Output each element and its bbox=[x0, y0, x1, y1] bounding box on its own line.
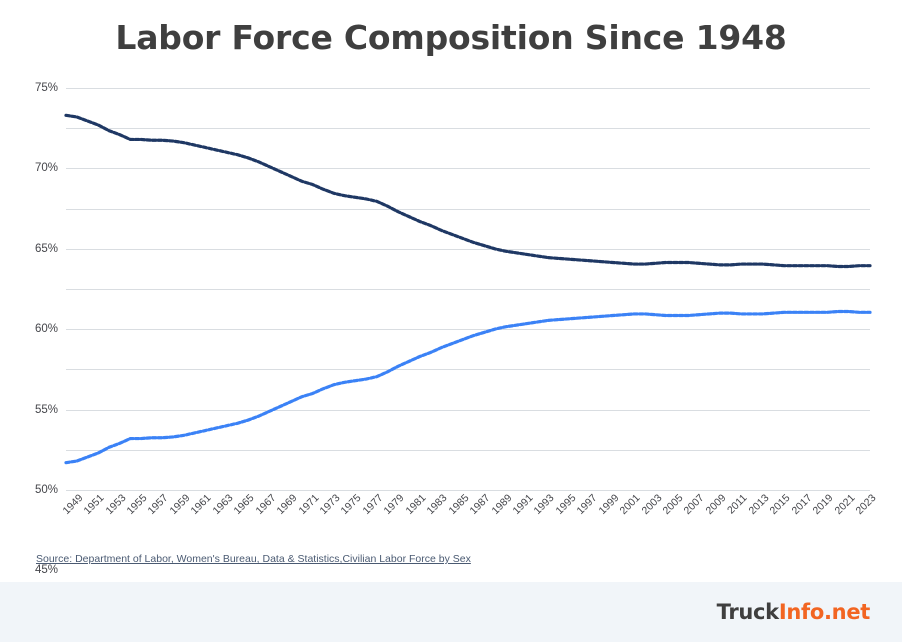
brand-name-secondary: Info.net bbox=[779, 600, 870, 624]
x-axis-tick-label: 2007 bbox=[682, 492, 707, 517]
x-axis-tick-label: 1961 bbox=[189, 492, 214, 517]
plot-wrapper: 75%70%65%60%55%50%45%40%35%30%25% bbox=[0, 70, 902, 510]
x-axis-tick-label: 2003 bbox=[639, 492, 664, 517]
page-title: Labor Force Composition Since 1948 bbox=[0, 18, 902, 57]
brand-name-primary: Truck bbox=[717, 600, 779, 624]
y-axis-tick-label: 55% bbox=[35, 404, 58, 416]
x-axis-tick-label: 1981 bbox=[403, 492, 428, 517]
x-axis-tick-label: 2011 bbox=[725, 492, 749, 516]
x-axis-tick-label: 1987 bbox=[468, 492, 493, 517]
x-axis-tick-label: 2009 bbox=[703, 492, 728, 517]
x-axis-tick-label: 1953 bbox=[103, 492, 128, 517]
x-axis-tick-label: 2021 bbox=[832, 492, 857, 517]
x-axis-tick-label: 1971 bbox=[296, 492, 321, 517]
x-axis-tick-label: 1975 bbox=[339, 492, 364, 517]
chart-page: Labor Force Composition Since 1948 75%70… bbox=[0, 0, 902, 642]
y-axis-tick-label: 60% bbox=[35, 323, 58, 335]
y-axis-tick-label: 75% bbox=[35, 82, 58, 94]
plot-area: 75%70%65%60%55%50%45%40%35%30%25% bbox=[66, 88, 870, 490]
series-lines bbox=[66, 88, 870, 490]
series-line-women bbox=[66, 312, 870, 463]
x-axis-tick-label: 1979 bbox=[382, 492, 407, 517]
x-axis-tick-label: 1977 bbox=[360, 492, 385, 517]
x-axis-tick-label: 1995 bbox=[553, 492, 578, 517]
x-axis-tick-label: 1993 bbox=[532, 492, 557, 517]
source-note: Source: Department of Labor, Women's Bur… bbox=[36, 553, 471, 565]
gridline: 25% bbox=[66, 490, 870, 491]
x-axis-tick-label: 1983 bbox=[425, 492, 450, 517]
x-axis-tick-label: 1969 bbox=[275, 492, 300, 517]
x-axis-tick-label: 1989 bbox=[489, 492, 514, 517]
x-axis-tick-label: 1967 bbox=[253, 492, 278, 517]
x-axis-tick-label: 1965 bbox=[232, 492, 257, 517]
x-axis-tick-label: 2005 bbox=[661, 492, 686, 517]
brand-logo: TruckInfo.net bbox=[717, 600, 870, 624]
x-axis-tick-label: 1957 bbox=[146, 492, 171, 517]
x-axis-ticks: 1949195119531955195719591961196319651967… bbox=[66, 492, 870, 552]
x-axis-tick-label: 2001 bbox=[618, 492, 643, 517]
x-axis-tick-label: 1973 bbox=[317, 492, 342, 517]
x-axis-tick-label: 1951 bbox=[82, 492, 107, 517]
x-axis-tick-label: 2013 bbox=[746, 492, 771, 517]
y-axis-tick-label: 65% bbox=[35, 243, 58, 255]
x-axis-tick-label: 2017 bbox=[789, 492, 814, 517]
y-axis-tick-label: 70% bbox=[35, 162, 58, 174]
y-axis-tick-label: 50% bbox=[35, 484, 58, 496]
x-axis-tick-label: 2019 bbox=[811, 492, 836, 517]
x-axis-tick-label: 1991 bbox=[510, 492, 535, 517]
x-axis-tick-label: 1959 bbox=[167, 492, 192, 517]
x-axis-tick-label: 1955 bbox=[125, 492, 150, 517]
series-line-men bbox=[66, 115, 870, 266]
y-axis-tick-label: 45% bbox=[35, 564, 58, 576]
x-axis-tick-label: 1999 bbox=[596, 492, 621, 517]
x-axis-tick-label: 1997 bbox=[575, 492, 600, 517]
x-axis-tick-label: 2015 bbox=[768, 492, 793, 517]
x-axis-tick-label: 1963 bbox=[210, 492, 235, 517]
x-axis-tick-label: 1985 bbox=[446, 492, 471, 517]
